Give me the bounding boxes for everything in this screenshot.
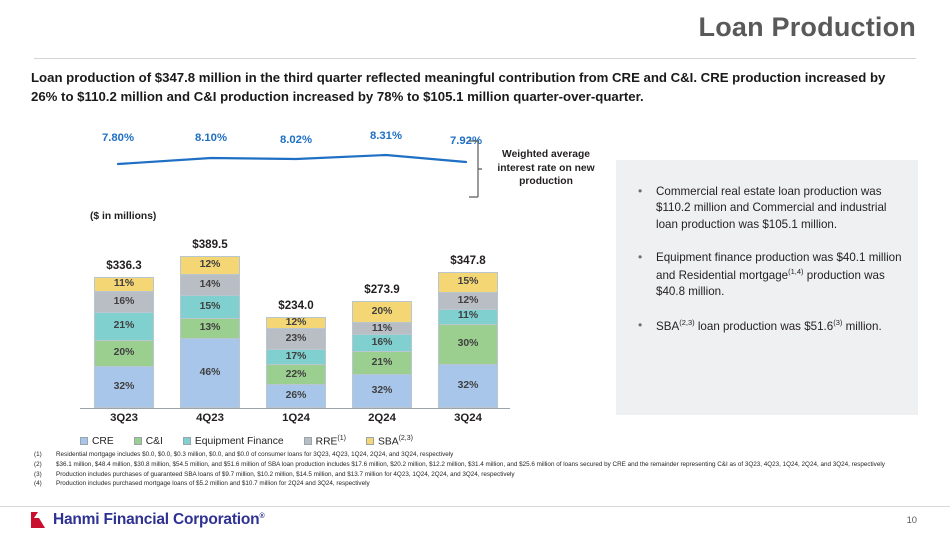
loan-production-bar-chart: $336.3 11% 16% 21% 20% 32% $389.5 12% 14…	[80, 236, 510, 408]
footnote-number-3: (3)	[34, 470, 50, 480]
bar-segment-equip-1Q24: 17%	[266, 349, 326, 365]
bar-total-4Q23: $389.5	[180, 238, 240, 251]
highlight-bullet-1: Commercial real estate loan production w…	[634, 184, 902, 233]
legend-label-equipment-finance: Equipment Finance	[195, 436, 284, 447]
highlights-panel: Commercial real estate loan production w…	[616, 160, 918, 415]
legend-item-rre: RRE(1)	[304, 435, 346, 447]
footnote-number-4: (4)	[34, 479, 50, 489]
bar-segment-sba-2Q24: 20%	[352, 301, 412, 322]
weighted-average-label: Weighted average interest rate on new pr…	[492, 148, 600, 189]
lead-paragraph: Loan production of $347.8 million in the…	[31, 68, 911, 106]
x-label-1Q24: 1Q24	[266, 412, 326, 424]
legend-swatch-ci	[134, 437, 142, 445]
bar-segment-cre-4Q23: 46%	[180, 338, 240, 408]
legend-label-rre: RRE(1)	[316, 435, 346, 447]
x-axis-line	[80, 408, 510, 409]
bar-segment-equip-3Q24: 11%	[438, 309, 498, 324]
bar-column-1Q24: $234.0 12% 23% 17% 22% 26%	[266, 317, 326, 408]
footnote-text-3: Production includes purchases of guarant…	[56, 470, 515, 480]
highlight-bullet-3: SBA(2,3) loan production was $51.6(3) mi…	[634, 318, 902, 335]
footnote-number-2: (2)	[34, 460, 50, 470]
company-logo: Hanmi Financial Corporation®	[30, 511, 264, 529]
bar-total-1Q24: $234.0	[266, 299, 326, 312]
footnote-row-3: (3) Production includes purchases of gua…	[34, 470, 914, 480]
hanmi-mark-icon	[30, 511, 46, 529]
x-axis-labels: 3Q23 4Q23 1Q24 2Q24 3Q24	[80, 412, 510, 430]
bar-column-3Q24: $347.8 15% 12% 11% 30% 32%	[438, 272, 498, 408]
footnote-number-1: (1)	[34, 450, 50, 460]
bar-segment-equip-3Q23: 21%	[94, 312, 154, 340]
bar-segment-rre-2Q24: 11%	[352, 322, 412, 334]
bar-segment-cre-1Q24: 26%	[266, 384, 326, 408]
bar-column-4Q23: $389.5 12% 14% 15% 13% 46%	[180, 256, 240, 408]
x-label-4Q23: 4Q23	[180, 412, 240, 424]
bar-segment-sba-1Q24: 12%	[266, 317, 326, 328]
rate-label-2: 8.02%	[280, 134, 312, 146]
legend-item-sba: SBA(2,3)	[366, 435, 413, 447]
bar-segment-ci-3Q23: 20%	[94, 340, 154, 366]
bar-segment-sba-4Q23: 12%	[180, 256, 240, 274]
x-label-3Q23: 3Q23	[94, 412, 154, 424]
bar-segment-rre-3Q24: 12%	[438, 292, 498, 308]
weighted-average-bracket	[468, 140, 482, 198]
footnote-row-4: (4) Production includes purchased mortga…	[34, 479, 914, 489]
rate-trend-line	[96, 150, 492, 172]
page-title: Loan Production	[699, 12, 916, 43]
rate-label-3: 8.31%	[370, 130, 402, 142]
bar-segment-equip-4Q23: 15%	[180, 295, 240, 318]
legend-swatch-equipment-finance	[183, 437, 191, 445]
bar-total-3Q23: $336.3	[94, 259, 154, 272]
footnote-text-4: Production includes purchased mortgage l…	[56, 479, 370, 489]
units-note: ($ in millions)	[90, 211, 156, 222]
legend-swatch-rre	[304, 437, 312, 445]
footnote-text-2: $36.1 million, $48.4 million, $30.8 mill…	[56, 460, 885, 470]
legend-item-equipment-finance: Equipment Finance	[183, 435, 284, 447]
x-label-2Q24: 2Q24	[352, 412, 412, 424]
bar-segment-ci-1Q24: 22%	[266, 364, 326, 384]
bar-total-2Q24: $273.9	[352, 283, 412, 296]
legend-swatch-cre	[80, 437, 88, 445]
x-label-3Q24: 3Q24	[438, 412, 498, 424]
chart-legend: CRE C&I Equipment Finance RRE(1) SBA(2,3…	[80, 435, 520, 447]
bar-segment-rre-1Q24: 23%	[266, 328, 326, 349]
bar-segment-cre-2Q24: 32%	[352, 374, 412, 408]
bar-column-3Q23: $336.3 11% 16% 21% 20% 32%	[94, 277, 154, 408]
footnote-row-2: (2) $36.1 million, $48.4 million, $30.8 …	[34, 460, 914, 470]
bar-segment-cre-3Q24: 32%	[438, 364, 498, 408]
page-number: 10	[907, 514, 917, 525]
bar-segment-sba-3Q24: 15%	[438, 272, 498, 292]
legend-label-sba: SBA(2,3)	[378, 435, 413, 447]
bar-segment-ci-4Q23: 13%	[180, 318, 240, 338]
company-name: Hanmi Financial Corporation®	[53, 511, 264, 529]
legend-swatch-sba	[366, 437, 374, 445]
bar-column-2Q24: $273.9 20% 11% 16% 21% 32%	[352, 301, 412, 408]
footnote-row-1: (1) Residential mortgage includes $0.0, …	[34, 450, 914, 460]
legend-item-ci: C&I	[134, 435, 163, 447]
footnote-text-1: Residential mortgage includes $0.0, $0.0…	[56, 450, 453, 460]
bar-segment-rre-3Q23: 16%	[94, 291, 154, 312]
title-divider	[34, 58, 916, 59]
interest-rate-line-chart: 7.80% 8.10% 8.02% 8.31% 7.92%	[96, 132, 492, 172]
footer-divider	[0, 506, 950, 507]
legend-label-cre: CRE	[92, 436, 114, 447]
slide: Loan Production Loan production of $347.…	[0, 0, 950, 534]
legend-label-ci: C&I	[146, 436, 163, 447]
bar-segment-ci-2Q24: 21%	[352, 351, 412, 374]
bar-segment-ci-3Q24: 30%	[438, 324, 498, 365]
legend-item-cre: CRE	[80, 435, 114, 447]
bar-total-3Q24: $347.8	[438, 254, 498, 267]
footnotes: (1) Residential mortgage includes $0.0, …	[34, 450, 914, 489]
highlight-bullet-2: Equipment finance production was $40.1 m…	[634, 250, 902, 300]
bar-segment-cre-3Q23: 32%	[94, 366, 154, 408]
bar-segment-rre-4Q23: 14%	[180, 274, 240, 295]
rate-label-1: 8.10%	[195, 132, 227, 144]
rate-label-0: 7.80%	[102, 132, 134, 144]
bar-segment-sba-3Q23: 11%	[94, 277, 154, 291]
bar-segment-equip-2Q24: 16%	[352, 334, 412, 351]
